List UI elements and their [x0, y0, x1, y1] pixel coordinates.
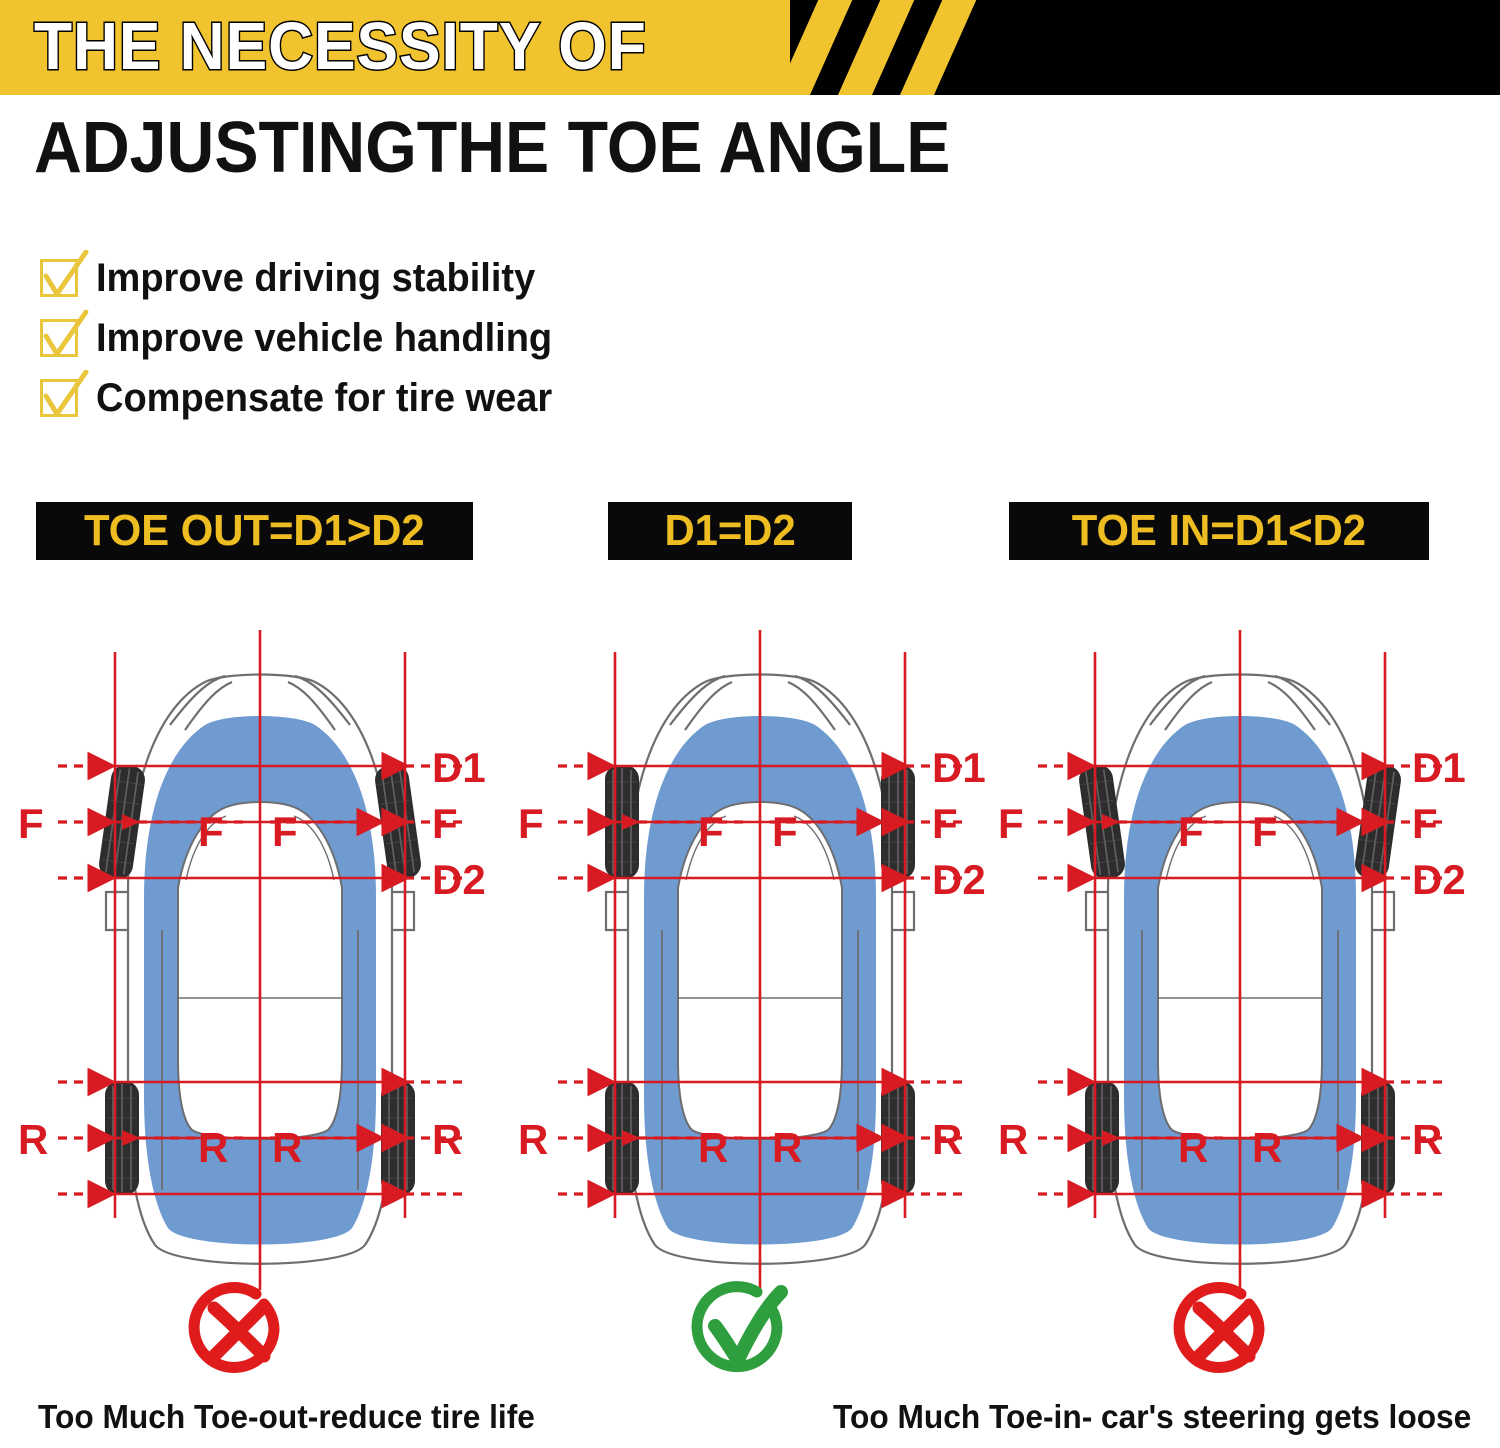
benefits-list: Improve driving stability Improve vehicl… — [40, 250, 576, 430]
car-diagram-aligned: D1 F D2 F R R F F R R — [510, 630, 1010, 1290]
car-diagram-toe-out: D1 F D2 F R R F F R R — [10, 630, 510, 1290]
label-d2: D2 — [1412, 856, 1466, 903]
header-banner: THE NECESSITY OF — [0, 0, 1500, 95]
label-r-left: R — [18, 1116, 48, 1163]
section-tag-toe-in: TOE IN=D1<D2 — [1009, 502, 1429, 560]
list-item: Improve driving stability — [40, 250, 576, 306]
label-r-inner-right: R — [272, 1124, 302, 1171]
page-title: THE NECESSITY OF — [34, 10, 647, 84]
label-r-inner-left: R — [698, 1124, 728, 1171]
benefit-label: Compensate for tire wear — [96, 376, 552, 421]
label-f-left: F — [518, 800, 544, 847]
label-r-right: R — [432, 1116, 462, 1163]
label-f-left: F — [18, 800, 44, 847]
label-f-inner-left: F — [1178, 808, 1204, 855]
verdict-cross-icon — [178, 1278, 298, 1388]
benefit-label: Improve driving stability — [96, 256, 535, 301]
section-tag-label: TOE IN=D1<D2 — [1072, 506, 1366, 556]
section-tag-equal: D1=D2 — [608, 502, 852, 560]
label-f-inner-right: F — [272, 808, 298, 855]
label-r-inner-right: R — [772, 1124, 802, 1171]
label-f-right: F — [932, 800, 958, 847]
section-tag-label: D1=D2 — [664, 506, 795, 556]
label-r-inner-left: R — [198, 1124, 228, 1171]
checkbox-checked-icon — [40, 259, 78, 297]
section-tag-label: TOE OUT=D1>D2 — [84, 506, 425, 556]
label-r-left: R — [518, 1116, 548, 1163]
label-f-inner-right: F — [772, 808, 798, 855]
list-item: Compensate for tire wear — [40, 370, 576, 426]
car-diagram-toe-in: D1 F D2 F R R F F R R — [990, 630, 1490, 1290]
label-d1: D1 — [432, 744, 486, 791]
label-r-left: R — [998, 1116, 1028, 1163]
label-r-right: R — [1412, 1116, 1442, 1163]
label-f-right: F — [432, 800, 458, 847]
caption-toe-out: Too Much Toe-out-reduce tire life — [38, 1398, 535, 1436]
label-d2: D2 — [432, 856, 486, 903]
label-d1: D1 — [1412, 744, 1466, 791]
label-f-inner-right: F — [1252, 808, 1278, 855]
label-r-inner-left: R — [1178, 1124, 1208, 1171]
page-subtitle: ADJUSTINGTHE TOE ANGLE — [34, 108, 950, 188]
checkbox-checked-icon — [40, 379, 78, 417]
label-f-left: F — [998, 800, 1024, 847]
label-f-right: F — [1412, 800, 1438, 847]
label-r-right: R — [932, 1116, 962, 1163]
verdict-check-icon — [683, 1278, 803, 1388]
label-d1: D1 — [932, 744, 986, 791]
list-item: Improve vehicle handling — [40, 310, 576, 366]
label-r-inner-right: R — [1252, 1124, 1282, 1171]
label-f-inner-left: F — [698, 808, 724, 855]
label-f-inner-left: F — [198, 808, 224, 855]
section-tag-toe-out: TOE OUT=D1>D2 — [36, 502, 473, 560]
verdict-cross-icon — [1163, 1278, 1283, 1388]
checkbox-checked-icon — [40, 319, 78, 357]
caption-toe-in: Too Much Toe-in- car's steering gets loo… — [833, 1398, 1471, 1436]
benefit-label: Improve vehicle handling — [96, 316, 552, 361]
label-d2: D2 — [932, 856, 986, 903]
